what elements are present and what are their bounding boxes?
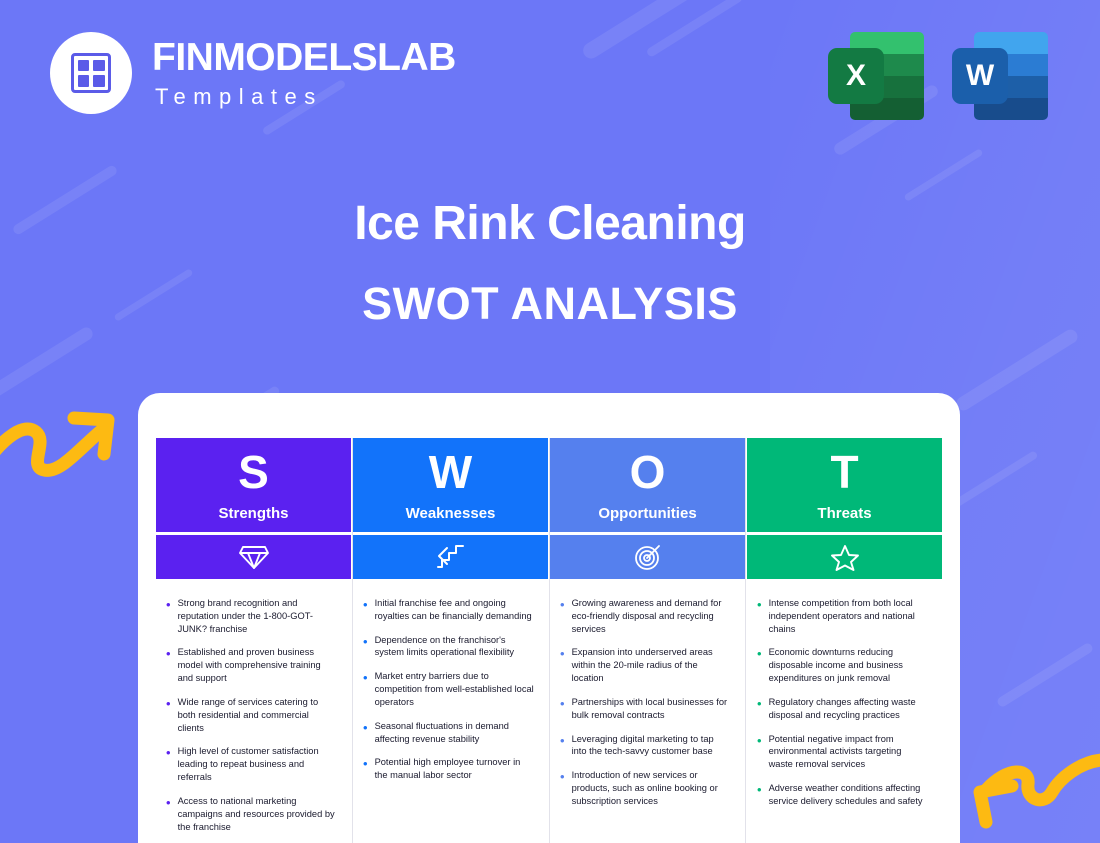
brand-logo-block: FINMODELSLAB Templates	[50, 32, 456, 114]
bullet-icon: •	[363, 757, 368, 782]
bullet-icon: •	[560, 734, 565, 759]
bullet-icon: •	[560, 647, 565, 684]
brand-name: FINMODELSLAB	[152, 38, 456, 77]
swot-items-opportunities: •Growing awareness and demand for eco-fr…	[550, 579, 745, 819]
bullet-icon: •	[757, 697, 762, 722]
swot-label-threats: Threats	[817, 505, 871, 522]
swot-label-opportunities: Opportunities	[598, 505, 696, 522]
bullet-icon: •	[560, 598, 565, 635]
list-item: •Intense competition from both local ind…	[757, 597, 928, 635]
swot-header-opportunities: O Opportunities	[550, 438, 745, 532]
bullet-icon: •	[363, 598, 368, 623]
grid-logo-icon	[50, 32, 132, 114]
target-icon	[550, 535, 745, 579]
swot-header-strengths: S Strengths	[156, 438, 351, 532]
list-item: •Growing awareness and demand for eco-fr…	[560, 597, 731, 635]
bullet-icon: •	[166, 796, 171, 833]
excel-icon-letter: X	[828, 48, 884, 104]
list-item: •Initial franchise fee and ongoing royal…	[363, 597, 534, 623]
swot-items-strengths: •Strong brand recognition and reputation…	[156, 579, 351, 843]
page-title: Ice Rink Cleaning	[0, 196, 1100, 251]
list-item: •Economic downturns reducing disposable …	[757, 646, 928, 684]
bullet-icon: •	[757, 783, 762, 808]
list-item: •Dependence on the franchisor's system l…	[363, 634, 534, 660]
list-item: •Leveraging digital marketing to tap int…	[560, 733, 731, 759]
bullet-icon: •	[757, 647, 762, 684]
bullet-icon: •	[757, 598, 762, 635]
brand-subtitle: Templates	[152, 86, 456, 108]
page-subtitle: SWOT ANALYSIS	[0, 278, 1100, 330]
list-item: •Regulatory changes affecting waste disp…	[757, 696, 928, 722]
list-item: •Market entry barriers due to competitio…	[363, 670, 534, 708]
diamond-icon	[156, 535, 351, 579]
title-block: Ice Rink Cleaning SWOT ANALYSIS	[0, 196, 1100, 330]
squiggly-arrow-down-left-icon	[956, 752, 1100, 832]
swot-letter-t: T	[830, 449, 858, 495]
office-format-icons: X W	[828, 26, 1048, 122]
list-item: •Wide range of services catering to both…	[166, 696, 337, 734]
star-icon	[747, 535, 942, 579]
bullet-icon: •	[166, 647, 171, 684]
bullet-icon: •	[166, 697, 171, 734]
swot-label-weaknesses: Weaknesses	[406, 505, 496, 522]
excel-icon: X	[828, 26, 924, 122]
swot-header-weaknesses: W Weaknesses	[353, 438, 548, 532]
downstairs-arrow-icon	[353, 535, 548, 579]
bullet-icon: •	[560, 697, 565, 722]
list-item: •Access to national marketing campaigns …	[166, 795, 337, 833]
list-item: •Potential high employee turnover in the…	[363, 756, 534, 782]
swot-poster: FINMODELSLAB Templates X W Ice Rink Clea…	[0, 0, 1100, 843]
swot-column-opportunities: O Opportunities •Growing awareness and d…	[550, 438, 745, 843]
bullet-icon: •	[166, 746, 171, 783]
list-item: •High level of customer satisfaction lea…	[166, 745, 337, 783]
bullet-icon: •	[560, 770, 565, 807]
list-item: •Expansion into underserved areas within…	[560, 646, 731, 684]
swot-column-threats: T Threats •Intense competition from both…	[747, 438, 942, 843]
list-item: •Partnerships with local businesses for …	[560, 696, 731, 722]
swot-header-threats: T Threats	[747, 438, 942, 532]
list-item: •Strong brand recognition and reputation…	[166, 597, 337, 635]
swot-grid: S Strengths •Strong brand recognition an…	[156, 438, 942, 843]
swot-items-weaknesses: •Initial franchise fee and ongoing royal…	[353, 579, 548, 793]
bullet-icon: •	[363, 721, 368, 746]
swot-letter-w: W	[429, 449, 472, 495]
swot-items-threats: •Intense competition from both local ind…	[747, 579, 942, 819]
list-item: •Introduction of new services or product…	[560, 769, 731, 807]
list-item: •Adverse weather conditions affecting se…	[757, 782, 928, 808]
swot-letter-s: S	[238, 449, 269, 495]
word-icon-letter: W	[952, 48, 1008, 104]
list-item: •Potential negative impact from environm…	[757, 733, 928, 771]
swot-card: S Strengths •Strong brand recognition an…	[138, 393, 960, 843]
swot-column-strengths: S Strengths •Strong brand recognition an…	[156, 438, 351, 843]
bullet-icon: •	[363, 671, 368, 708]
swot-letter-o: O	[630, 449, 666, 495]
bullet-icon: •	[166, 598, 171, 635]
list-item: •Seasonal fluctuations in demand affecti…	[363, 720, 534, 746]
word-icon: W	[952, 26, 1048, 122]
squiggly-arrow-up-right-icon	[0, 398, 124, 478]
swot-column-weaknesses: W Weaknesses •Initial franchise fee and …	[353, 438, 548, 843]
bullet-icon: •	[757, 734, 762, 771]
bullet-icon: •	[363, 635, 368, 660]
swot-label-strengths: Strengths	[218, 505, 288, 522]
list-item: •Established and proven business model w…	[166, 646, 337, 684]
